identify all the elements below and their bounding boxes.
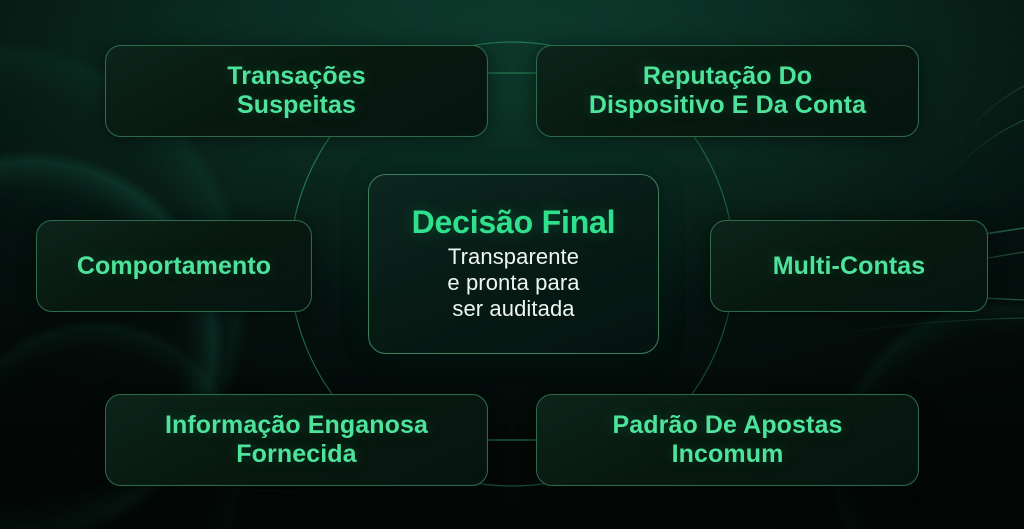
node-label: Transações Suspeitas bbox=[217, 62, 376, 120]
node-label: Informação Enganosa Fornecida bbox=[155, 411, 438, 469]
node-card-multi-contas[interactable]: Multi-Contas bbox=[710, 220, 988, 312]
node-card-reputacao-dispositivo-conta[interactable]: Reputação Do Dispositivo E Da Conta bbox=[536, 45, 919, 137]
center-card-subtitle: Transparente e pronta para ser auditada bbox=[447, 244, 579, 322]
center-card-title: Decisão Final bbox=[412, 206, 616, 240]
node-label: Comportamento bbox=[67, 252, 281, 281]
node-card-informacao-enganosa-fornecida[interactable]: Informação Enganosa Fornecida bbox=[105, 394, 488, 486]
node-label: Padrão De Apostas Incomum bbox=[602, 411, 852, 469]
node-card-transacoes-suspeitas[interactable]: Transações Suspeitas bbox=[105, 45, 488, 137]
node-label: Multi-Contas bbox=[763, 252, 936, 281]
node-card-comportamento[interactable]: Comportamento bbox=[36, 220, 312, 312]
node-label: Reputação Do Dispositivo E Da Conta bbox=[579, 62, 876, 120]
center-card-decisao-final[interactable]: Decisão Final Transparente e pronta para… bbox=[368, 174, 659, 354]
node-card-padrao-apostas-incomum[interactable]: Padrão De Apostas Incomum bbox=[536, 394, 919, 486]
diagram-canvas: Transações Suspeitas Reputação Do Dispos… bbox=[0, 0, 1024, 529]
